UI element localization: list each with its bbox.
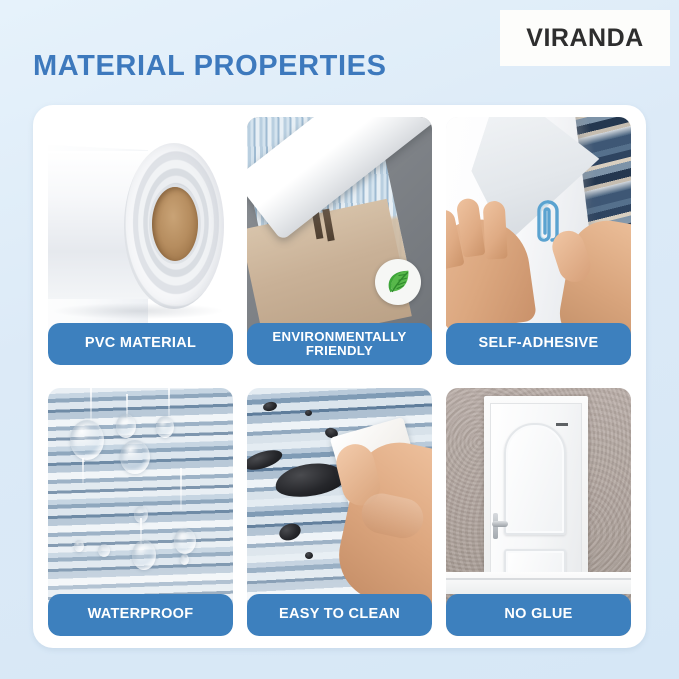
page-title: MATERIAL PROPERTIES	[33, 50, 387, 83]
feature-tile-pvc-material[interactable]: PVC MATERIAL	[48, 117, 233, 365]
brand-name: VIRANDA	[526, 24, 643, 53]
door-handle-icon	[492, 521, 508, 527]
feature-label-waterproof: WATERPROOF	[48, 594, 233, 636]
page-header: VIRANDA MATERIAL PROPERTIES	[0, 0, 679, 105]
feature-label-environmentally-friendly: ENVIRONMENTALLY FRIENDLY	[247, 323, 432, 365]
feature-tile-environmentally-friendly[interactable]: ENVIRONMENTALLY FRIENDLY	[247, 117, 432, 365]
feature-tile-waterproof[interactable]: WATERPROOF	[48, 388, 233, 636]
feature-label-self-adhesive: SELF-ADHESIVE	[446, 323, 631, 365]
brand-logo: VIRANDA	[500, 10, 670, 66]
door-frame	[484, 396, 588, 596]
feature-tile-easy-to-clean[interactable]: EASY TO CLEAN	[247, 388, 432, 636]
feature-label-pvc-material: PVC MATERIAL	[48, 323, 233, 365]
feature-tile-no-glue[interactable]: NO GLUE	[446, 388, 631, 636]
features-card: PVC MATERIAL	[33, 105, 646, 648]
roll-core	[152, 187, 198, 261]
feature-tile-self-adhesive[interactable]: SELF-ADHESIVE	[446, 117, 631, 365]
features-grid: PVC MATERIAL	[48, 117, 631, 636]
door	[490, 403, 582, 596]
feature-label-easy-to-clean: EASY TO CLEAN	[247, 594, 432, 636]
feature-label-no-glue: NO GLUE	[446, 594, 631, 636]
leaf-icon	[375, 259, 421, 305]
